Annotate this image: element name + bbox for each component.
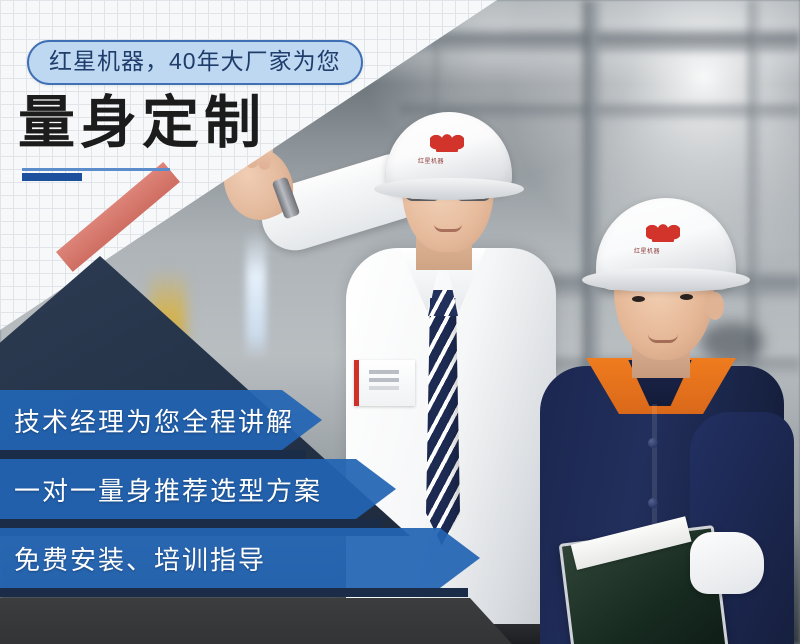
hard-hat-brim bbox=[374, 178, 524, 200]
light-tube-glow bbox=[246, 230, 266, 360]
feature-label: 一对一量身推荐选型方案 bbox=[0, 471, 322, 508]
promotional-banner: 红星机器 红星机器 bbox=[0, 0, 800, 644]
feature-bar-2: 一对一量身推荐选型方案 bbox=[0, 459, 396, 519]
jacket-button bbox=[648, 498, 658, 508]
helmet-logo-text: 红星机器 bbox=[634, 246, 660, 255]
helmet-logo-icon bbox=[430, 134, 464, 152]
ear bbox=[706, 292, 724, 320]
id-badge bbox=[354, 360, 415, 406]
helmet-logo-icon bbox=[646, 224, 680, 242]
feature-bar-1: 技术经理为您全程讲解 bbox=[0, 390, 322, 450]
feature-bar-divider bbox=[0, 450, 306, 459]
page-title: 量身定制 bbox=[18, 92, 266, 155]
helmet-logo-text: 红星机器 bbox=[418, 156, 444, 165]
striped-necktie bbox=[426, 298, 460, 548]
tagline-badge: 红星机器，40年大厂家为您 bbox=[27, 40, 363, 85]
eye bbox=[680, 294, 693, 300]
bottom-dark-band bbox=[0, 598, 560, 644]
title-underline-thin bbox=[22, 168, 170, 171]
jacket-button bbox=[648, 438, 658, 448]
feature-bar-divider bbox=[0, 588, 468, 597]
feature-bar-3: 免费安装、培训指导 bbox=[0, 528, 480, 588]
feature-bar-divider bbox=[0, 519, 382, 528]
title-underline-thick bbox=[22, 173, 82, 181]
eye bbox=[632, 296, 645, 302]
worker-technician-right: 红星机器 bbox=[540, 176, 790, 644]
white-work-glove bbox=[690, 532, 764, 594]
feature-label: 免费安装、培训指导 bbox=[0, 540, 266, 577]
mouth bbox=[434, 224, 462, 232]
mouth bbox=[648, 334, 678, 343]
feature-label: 技术经理为您全程讲解 bbox=[0, 402, 294, 439]
hard-hat-brim bbox=[582, 268, 750, 292]
